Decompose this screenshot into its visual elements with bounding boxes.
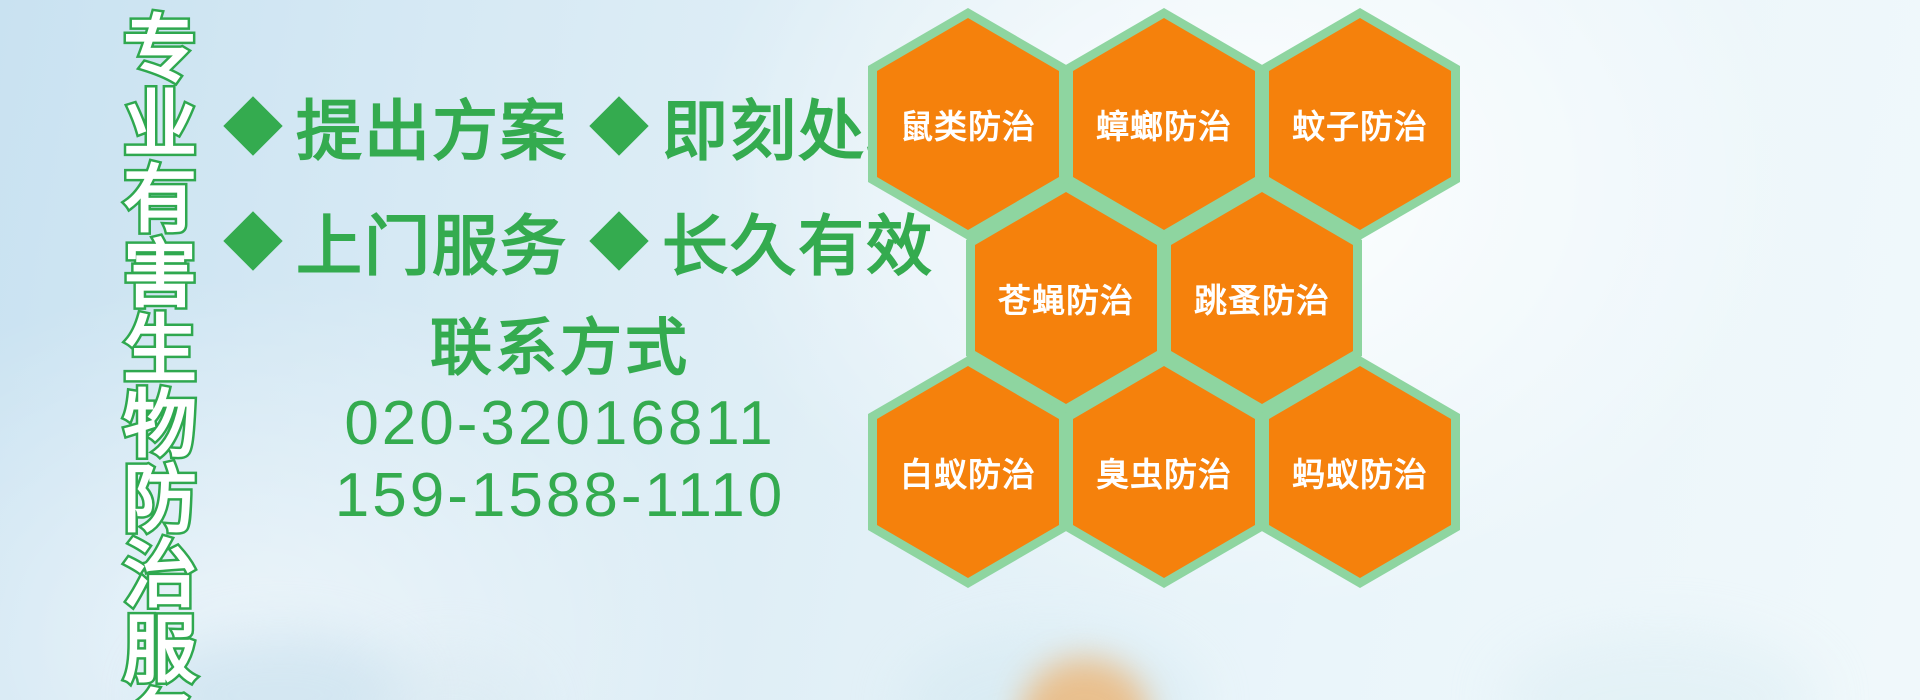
hex-inner: 臭虫防治 <box>1073 366 1255 578</box>
feature-label: 提出方案 <box>296 78 568 174</box>
diamond-bullet-icon <box>223 211 282 270</box>
hex-inner: 白蚁防治 <box>877 366 1059 578</box>
vertical-headline-char: 业 <box>123 87 197 162</box>
decorative-blob <box>1500 630 1820 700</box>
feature-row-1: 提出方案 即刻处理 <box>232 78 964 174</box>
hex-label: 苍蝇防治 <box>998 274 1134 322</box>
vertical-headline: 专 业 有 害 生 物 防 治 服 务 <box>112 12 208 700</box>
diamond-bullet-icon <box>589 211 648 270</box>
hex-label: 蚂蚁防治 <box>1292 448 1428 496</box>
diamond-bullet-icon <box>589 96 648 155</box>
vertical-headline-char: 害 <box>123 237 197 312</box>
hex-inner: 鼠类防治 <box>877 18 1059 230</box>
vertical-headline-char: 治 <box>123 537 197 612</box>
phone-number-landline[interactable]: 020-32016811 <box>300 388 820 460</box>
hex-inner: 苍蝇防治 <box>975 192 1157 404</box>
hex-inner: 蟑螂防治 <box>1073 18 1255 230</box>
feature-label: 上门服务 <box>296 193 568 289</box>
contact-block: 联系方式 020-32016811 159-1588-1110 <box>300 310 820 532</box>
hex-inner: 蚊子防治 <box>1269 18 1451 230</box>
hex-label: 白蚁防治 <box>900 448 1036 496</box>
vertical-headline-char: 物 <box>123 387 197 462</box>
vertical-headline-char: 务 <box>123 687 197 700</box>
vertical-headline-char: 防 <box>123 462 197 537</box>
hex-label: 蟑螂防治 <box>1096 100 1232 148</box>
diamond-bullet-icon <box>223 96 282 155</box>
hex-label: 蚊子防治 <box>1292 100 1428 148</box>
pest-control-banner: 专 业 有 害 生 物 防 治 服 务 提出方案 即刻处理 上门服务 长久有效 … <box>0 0 1920 700</box>
hex-inner: 蚂蚁防治 <box>1269 366 1451 578</box>
hex-label: 跳蚤防治 <box>1194 274 1330 322</box>
vertical-headline-char: 服 <box>123 612 197 687</box>
vertical-headline-char: 专 <box>123 12 197 87</box>
hex-label: 臭虫防治 <box>1096 448 1232 496</box>
hex-label: 鼠类防治 <box>900 100 1036 148</box>
phone-number-mobile[interactable]: 159-1588-1110 <box>300 460 820 532</box>
service-honeycomb: 鼠类防治 蟑螂防治 蚊子防治 苍蝇防治 跳蚤防治 白蚁防 <box>860 0 1480 700</box>
feature-row-2: 上门服务 长久有效 <box>232 193 964 289</box>
contact-title: 联系方式 <box>300 310 820 388</box>
vertical-headline-char: 有 <box>123 162 197 237</box>
hex-inner: 跳蚤防治 <box>1171 192 1353 404</box>
vertical-headline-char: 生 <box>123 312 197 387</box>
